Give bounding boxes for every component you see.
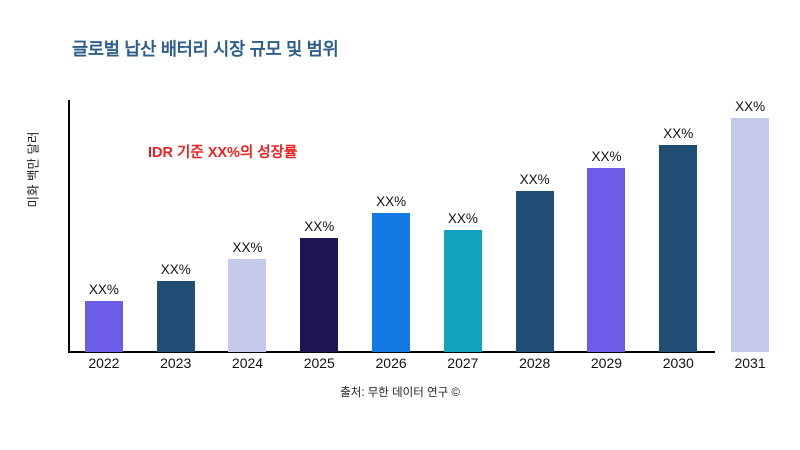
bar-value-label: XX% — [68, 282, 140, 297]
x-tick-2031: 2031 — [714, 355, 786, 371]
bar-2023[interactable] — [157, 281, 195, 352]
x-tick-2027: 2027 — [427, 355, 499, 371]
bar-2029[interactable] — [587, 168, 625, 352]
bar-2026[interactable] — [372, 213, 410, 352]
bar-2030[interactable] — [659, 145, 697, 352]
x-tick-2026: 2026 — [355, 355, 427, 371]
bar-group[interactable]: XX% — [68, 100, 140, 352]
bar-value-label: XX% — [283, 219, 355, 234]
bar-value-label: XX% — [499, 172, 571, 187]
bar-2024[interactable] — [228, 259, 266, 352]
bar-2025[interactable] — [300, 238, 338, 352]
bar-2031[interactable] — [731, 118, 769, 352]
bar-group[interactable]: XX% — [283, 100, 355, 352]
bar-group[interactable]: XX% — [714, 100, 786, 352]
source-note: 출처: 무한 데이터 연구 © — [0, 384, 800, 400]
bar-value-label: XX% — [571, 149, 643, 164]
bar-2022[interactable] — [85, 301, 123, 352]
bar-value-label: XX% — [140, 262, 212, 277]
bar-value-label: XX% — [642, 126, 714, 141]
x-tick-2023: 2023 — [140, 355, 212, 371]
y-axis-label: 미화 백만 달러 — [23, 110, 42, 230]
bar-2028[interactable] — [516, 191, 554, 352]
bar-value-label: XX% — [355, 194, 427, 209]
chart-page: 글로벌 납산 배터리 시장 규모 및 범위 미화 백만 달러 IDR 기준 XX… — [0, 0, 800, 450]
bar-value-label: XX% — [212, 240, 284, 255]
bar-value-label: XX% — [427, 211, 499, 226]
bar-2027[interactable] — [444, 230, 482, 352]
x-tick-2025: 2025 — [283, 355, 355, 371]
x-tick-2028: 2028 — [499, 355, 571, 371]
bar-series: XX%XX%XX%XX%XX%XX%XX%XX%XX%XX% — [68, 100, 786, 352]
bar-group[interactable]: XX% — [140, 100, 212, 352]
page-title: 글로벌 납산 배터리 시장 규모 및 범위 — [72, 36, 338, 61]
x-axis-tick-labels: 2022202320242025202620272028202920302031 — [68, 355, 786, 371]
bar-value-label: XX% — [714, 99, 786, 114]
bar-group[interactable]: XX% — [571, 100, 643, 352]
bar-group[interactable]: XX% — [642, 100, 714, 352]
bar-group[interactable]: XX% — [499, 100, 571, 352]
bar-group[interactable]: XX% — [355, 100, 427, 352]
x-tick-2022: 2022 — [68, 355, 140, 371]
bar-group[interactable]: XX% — [212, 100, 284, 352]
x-tick-2029: 2029 — [571, 355, 643, 371]
bar-group[interactable]: XX% — [427, 100, 499, 352]
x-tick-2024: 2024 — [212, 355, 284, 371]
x-tick-2030: 2030 — [642, 355, 714, 371]
